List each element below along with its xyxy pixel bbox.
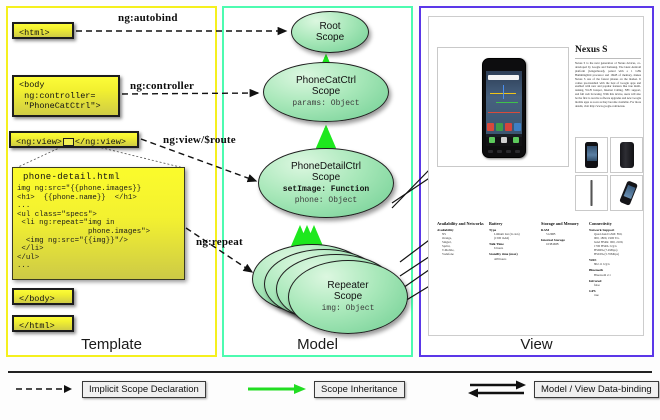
hardware-key-back	[488, 150, 493, 153]
hero-phone-image	[482, 58, 526, 158]
spec-value: false	[594, 283, 637, 287]
scope-phonecatctrl-title-2: Scope	[312, 86, 340, 97]
double-arrow-icon	[466, 378, 528, 400]
app-icon-1	[487, 123, 494, 131]
scope-repeater-stack: Repeater Scope img: Object	[252, 236, 412, 344]
spec-column-availability: Availability and Networks Availability N…	[437, 221, 485, 256]
thumbnail-edge-view[interactable]	[575, 175, 608, 211]
legend-label-implicit-scope: Implicit Scope Declaration	[82, 381, 206, 398]
scope-phonecatctrl-prop-params: params: Object	[292, 99, 359, 109]
map-route-blue	[503, 85, 504, 99]
legend-item-scope-inheritance: Scope Inheritance	[246, 378, 405, 400]
spec-value: Vodafone	[442, 252, 485, 256]
map-route-green	[496, 102, 518, 103]
dock-icon-browser	[513, 137, 519, 143]
specs-table: Availability and Networks Availability N…	[437, 221, 637, 321]
legend-item-implicit-scope: Implicit Scope Declaration	[14, 378, 206, 400]
tag-html-close: </html>	[12, 315, 74, 332]
tag-html-open: <html>	[12, 22, 74, 39]
hardware-key-search	[515, 150, 520, 153]
spec-value: 16384MB	[546, 242, 589, 246]
label-ng-autobind: ng:autobind	[118, 12, 178, 24]
spec-value: (1500 mAh)	[494, 236, 537, 240]
thumb-phone-edge	[590, 180, 593, 206]
hero-image-frame	[437, 47, 569, 167]
legend-label-scope-inheritance: Scope Inheritance	[314, 381, 405, 398]
hardware-key-home	[506, 150, 511, 153]
panel-template-label: Template	[8, 336, 215, 353]
rendered-page: Nexus S Nexus S is the next generation o…	[428, 16, 644, 336]
hero-hardware-keys	[486, 148, 522, 155]
screen-search-bar	[488, 75, 519, 80]
app-icon-2	[496, 123, 503, 131]
tag-body-open: <body ng:controller= "PhoneCatCtrl">	[12, 75, 120, 117]
scope-repeater-title-2: Scope	[334, 291, 362, 302]
tag-ngview-open: <ng:view>	[16, 137, 62, 147]
tag-ngview: <ng:view></ng:view>	[9, 131, 139, 148]
scope-phonecatctrl: PhoneCatCtrl Scope params: Object	[263, 62, 389, 122]
thumb-phone-back	[620, 142, 634, 168]
spec-header-battery: Battery	[489, 221, 537, 226]
spec-value: 428 hours	[494, 257, 537, 261]
map-route-red	[488, 112, 520, 113]
scope-phonedetailctrl: PhoneDetailCtrl Scope setImage: Function…	[258, 148, 394, 218]
dock-icon-phone	[489, 137, 495, 143]
thumb-front-screen	[587, 146, 597, 161]
legend: Implicit Scope Declaration Scope Inherit…	[0, 378, 660, 412]
hardware-key-menu	[497, 150, 502, 153]
scope-phonedetailctrl-title-2: Scope	[312, 172, 340, 183]
label-ng-controller: ng:controller	[130, 80, 194, 92]
spec-value: 512MB	[546, 232, 589, 236]
ngview-slot-icon	[63, 138, 74, 146]
note-code: img ng:src="{{phone.images}} <h1> {{phon…	[17, 185, 180, 271]
spec-header-storage: Storage and Memory	[541, 221, 589, 226]
tag-body-close: </body>	[12, 288, 74, 305]
app-icon-3	[505, 123, 512, 131]
product-title: Nexus S	[575, 45, 641, 55]
product-description: Nexus S is the next generation of Nexus …	[575, 62, 641, 130]
scope-repeater-front: Repeater Scope img: Object	[288, 260, 408, 334]
label-ng-repeat: ng:repeat	[196, 236, 243, 248]
panel-view-label: View	[421, 336, 652, 353]
dashed-arrow-icon	[14, 378, 76, 400]
tag-ngview-close: </ng:view>	[75, 137, 126, 147]
thumb-phone-front	[585, 142, 598, 168]
thumbnail-angled-view[interactable]	[610, 175, 643, 211]
thumbnail-back-view[interactable]	[610, 137, 643, 173]
scope-root-title-2: Scope	[316, 32, 344, 43]
scope-repeater-title-1: Repeater	[327, 280, 368, 291]
hero-dock	[486, 134, 522, 146]
green-arrow-icon	[246, 378, 308, 400]
title-divider	[575, 58, 641, 59]
scope-phonedetailctrl-prop-phone: phone: Object	[295, 196, 357, 206]
note-title: phone-detail.html	[23, 172, 180, 182]
thumbnail-front-view[interactable]	[575, 137, 608, 173]
spec-column-storage: Storage and Memory RAM 512MB Internal St…	[541, 221, 589, 246]
spec-value: Bluetooth 2.1	[594, 273, 637, 277]
scope-root-title-1: Root	[319, 21, 340, 32]
diagram-canvas: Template Model View	[0, 0, 660, 420]
note-phone-detail-html: phone-detail.html img ng:src="{{phone.im…	[12, 167, 185, 280]
spec-column-connectivity: Connectivity Network Support Quad-band G…	[589, 221, 637, 297]
scope-phonedetailctrl-title-1: PhoneDetailCtrl	[291, 161, 361, 172]
app-icon-4	[514, 123, 521, 131]
spec-value: 802.11 b/g/n	[594, 262, 637, 266]
legend-divider	[8, 371, 652, 373]
legend-label-data-binding: Model / View Data-binding	[534, 381, 659, 398]
scope-phonecatctrl-title-1: PhoneCatCtrl	[296, 75, 356, 86]
legend-item-data-binding: Model / View Data-binding	[466, 378, 659, 400]
spec-column-battery: Battery Type Lithium Ion (Li-Ion) (1500 …	[489, 221, 537, 261]
spec-value: 6 hours	[494, 246, 537, 250]
scope-phonedetailctrl-prop-setimage: setImage: Function	[283, 185, 369, 195]
spec-value: HSUPA (5.76Mbps)	[594, 252, 637, 256]
scope-root: Root Scope	[291, 11, 369, 53]
spec-header-availability: Availability and Networks	[437, 221, 485, 226]
spec-header-connectivity: Connectivity	[589, 221, 637, 226]
scope-repeater-prop-img: img: Object	[322, 304, 375, 314]
hero-app-row	[486, 123, 522, 133]
spec-value: true	[594, 293, 637, 297]
thumb-phone-angled	[615, 179, 639, 207]
label-ng-view-route: ng:view/$route	[163, 134, 236, 146]
dock-icon-apps	[501, 137, 507, 143]
